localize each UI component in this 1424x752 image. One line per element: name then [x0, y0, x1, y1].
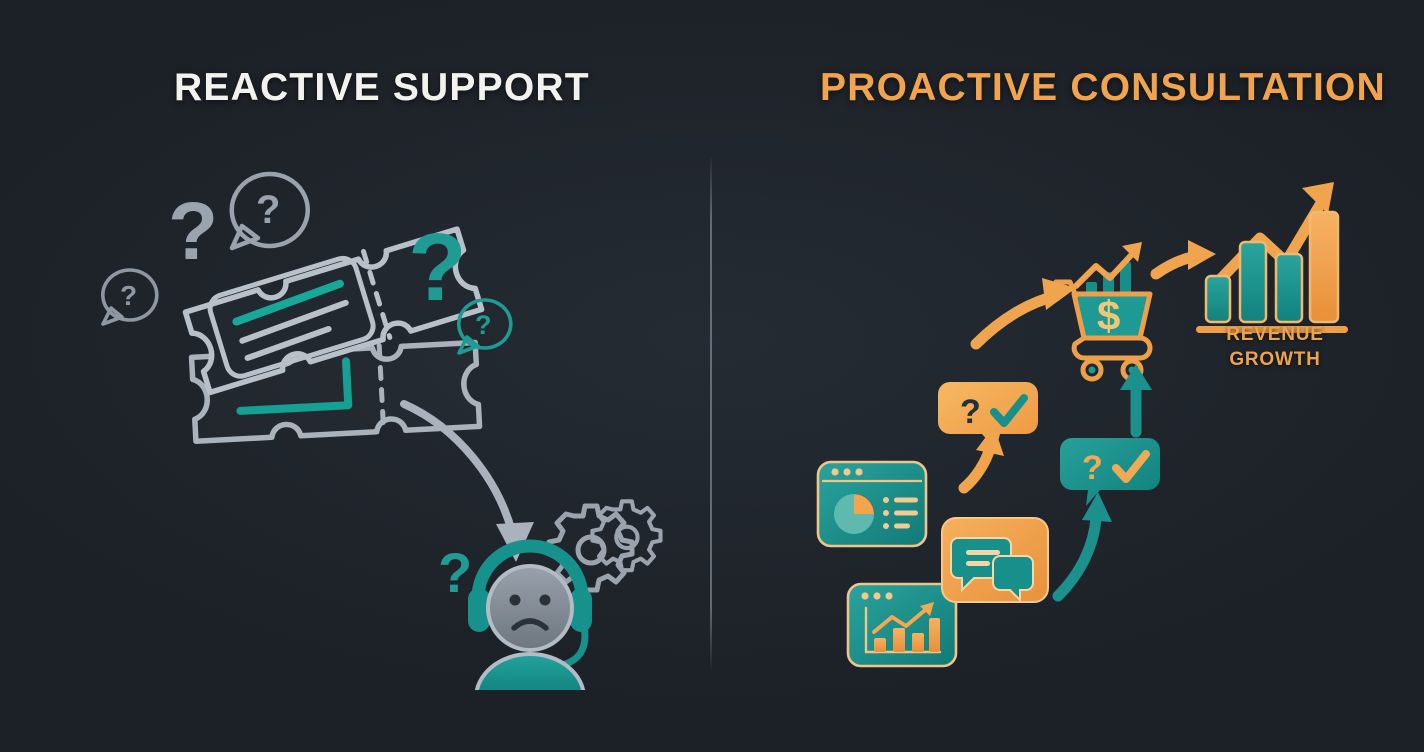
support-agent-headset [468, 546, 592, 690]
svg-text:?: ? [1082, 449, 1103, 487]
svg-text:?: ? [256, 188, 280, 232]
revenue-growth-chart [1196, 182, 1348, 333]
support-ticket-primary [184, 223, 482, 392]
support-ticket-secondary [191, 341, 479, 442]
question-mark-large-gray: ? [168, 186, 218, 277]
revenue-growth-label: REVENUE GROWTH [1204, 322, 1346, 372]
curved-arrow-teal-lower [1058, 492, 1112, 596]
svg-text:?: ? [960, 393, 981, 431]
dashboard-window-pie [818, 462, 926, 546]
straight-arrow-teal-up [1120, 364, 1152, 432]
infographic-canvas: REACTIVE SUPPORT PROACTIVE CONSULTATION [0, 0, 1424, 752]
arrow-orange-right [1156, 240, 1216, 274]
svg-text:?: ? [475, 310, 492, 340]
proactive-consultation-illustration: ? ? $ [790, 160, 1390, 690]
revenue-growth-label-line-2: GROWTH [1204, 347, 1346, 372]
chat-card-orange [942, 518, 1048, 602]
svg-text:$: $ [1097, 292, 1120, 339]
question-bubble-gray-left: ? [103, 270, 157, 324]
page-title-left: REACTIVE SUPPORT [174, 68, 590, 107]
svg-text:?: ? [438, 541, 472, 604]
panel-divider [710, 158, 712, 668]
page-title-right: PROACTIVE CONSULTATION [820, 68, 1386, 107]
curved-arrow-orange-upper [976, 278, 1076, 344]
svg-text:?: ? [408, 214, 467, 321]
question-mark-teal-agent: ? [438, 541, 472, 604]
dashboard-window-bars [848, 584, 956, 666]
question-bubble-gray-top: ? [232, 174, 308, 248]
curved-arrow-gray [404, 404, 534, 562]
speech-bubble-orange-qa: ? [938, 382, 1038, 450]
gears-gray [549, 501, 661, 590]
support-ticket-back [182, 387, 426, 455]
shopping-cart-dollar: $ [1056, 242, 1150, 379]
svg-text:?: ? [168, 186, 218, 277]
question-mark-large-teal: ? [408, 214, 467, 321]
speech-bubble-teal-qa: ? [1060, 438, 1160, 506]
revenue-growth-label-line-1: REVENUE [1204, 322, 1346, 347]
reactive-support-illustration: ? ? ? ? ? [60, 150, 680, 690]
curved-arrow-orange-lower [964, 426, 1004, 488]
svg-text:?: ? [120, 280, 137, 311]
question-bubble-teal-small: ? [459, 300, 511, 353]
